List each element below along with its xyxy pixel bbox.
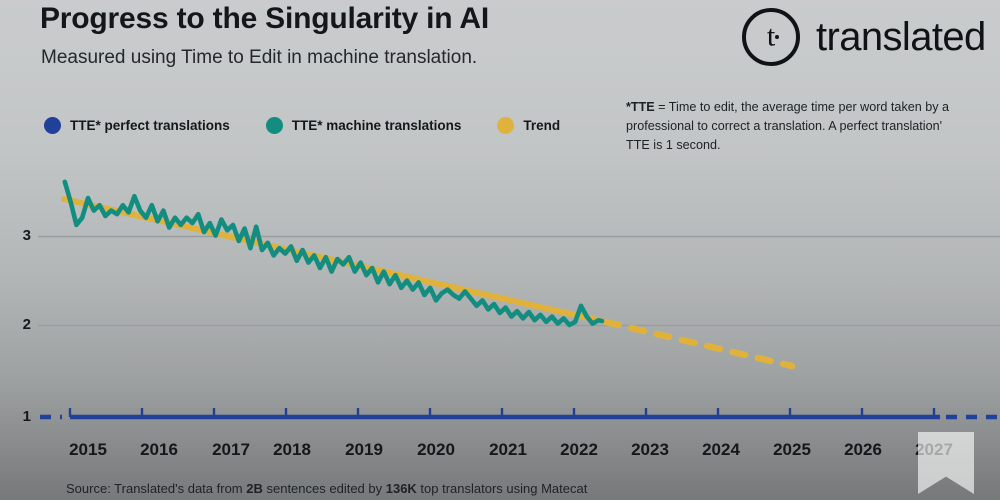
- x-tick-2018: 2018: [273, 440, 311, 460]
- x-tick-2025: 2025: [773, 440, 811, 460]
- series-perfect-translations: [40, 408, 1000, 417]
- x-tick-2017: 2017: [212, 440, 250, 460]
- source-sentences-count: 2B: [246, 481, 263, 496]
- y-tick-1: 1: [5, 408, 31, 425]
- chart-plot-area: [0, 0, 1000, 500]
- source-prefix: Source: Translated's data from: [66, 481, 246, 496]
- source-note: Source: Translated's data from 2B senten…: [66, 481, 587, 496]
- x-tick-2024: 2024: [702, 440, 740, 460]
- x-tick-2021: 2021: [489, 440, 527, 460]
- chart-canvas: Progress to the Singularity in AI Measur…: [0, 0, 1000, 500]
- x-tick-2016: 2016: [140, 440, 178, 460]
- source-mid: sentences edited by: [263, 481, 386, 496]
- x-tick-2022: 2022: [560, 440, 598, 460]
- x-tick-2020: 2020: [417, 440, 455, 460]
- x-tick-2023: 2023: [631, 440, 669, 460]
- x-tick-2019: 2019: [345, 440, 383, 460]
- x-tick-2026: 2026: [844, 440, 882, 460]
- x-tick-2015: 2015: [69, 440, 107, 460]
- source-suffix: top translators using Matecat: [417, 481, 588, 496]
- source-translators-count: 136K: [386, 481, 417, 496]
- y-tick-2: 2: [5, 316, 31, 333]
- y-tick-3: 3: [5, 227, 31, 244]
